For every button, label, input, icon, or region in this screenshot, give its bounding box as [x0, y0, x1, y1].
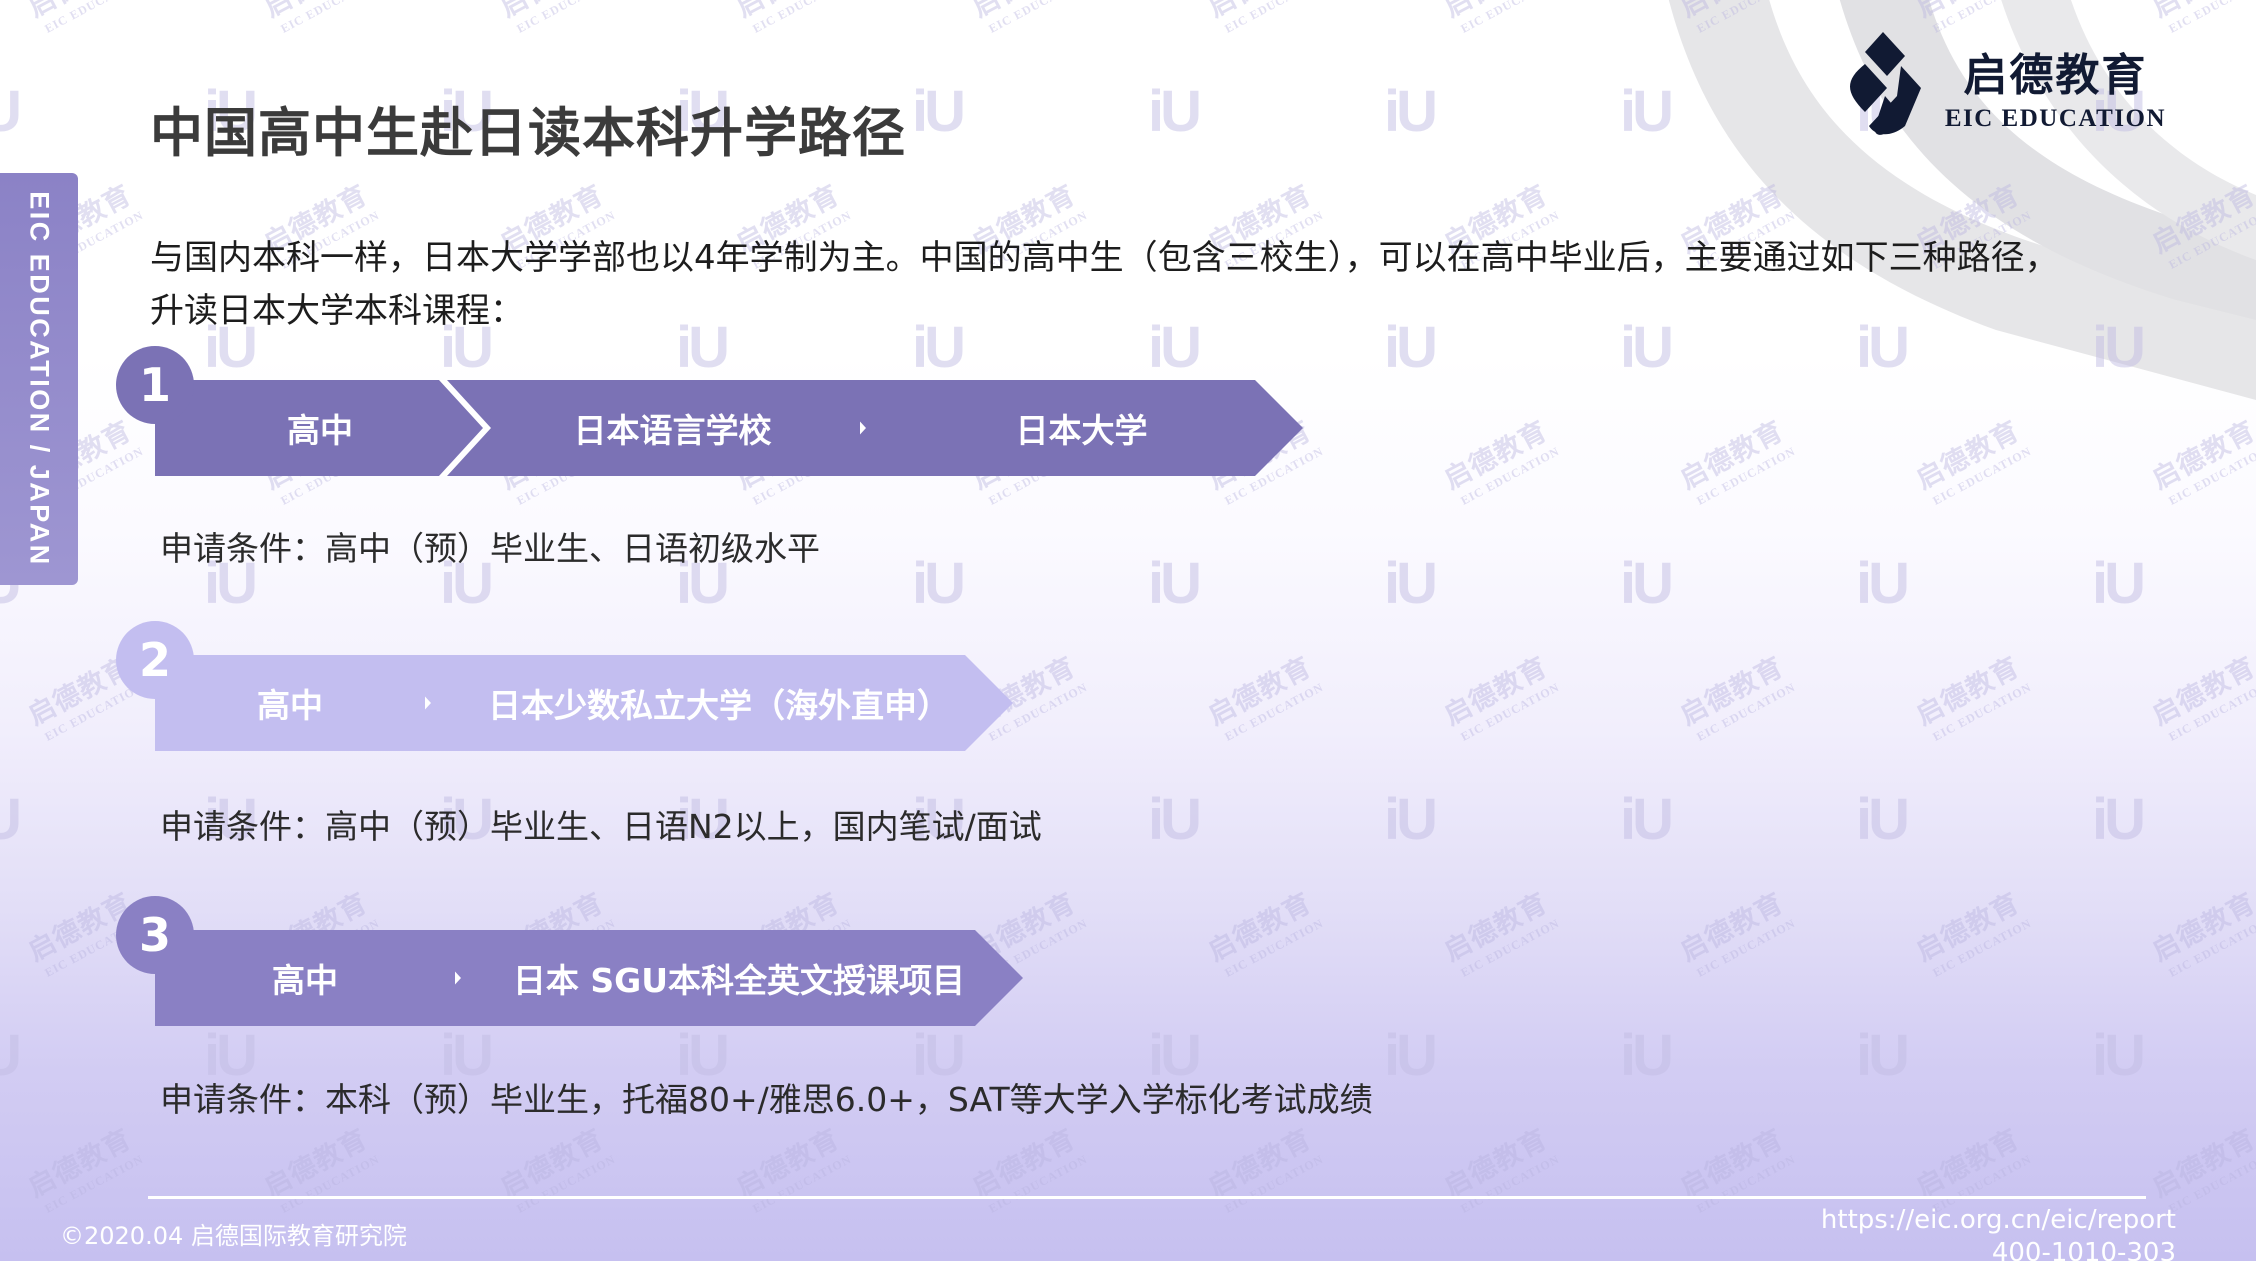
path-caption: 申请条件：高中（预）毕业生、日语N2以上，国内笔试/面试	[160, 800, 1042, 848]
path-caption: 申请条件：本科（预）毕业生，托福80+/雅思6.0+，SAT等大学入学标化考试成…	[160, 1073, 1373, 1121]
eic-logo: 启德教育 EIC EDUCATION	[1835, 30, 2166, 142]
path-step-label: 日本语言学校	[574, 404, 772, 452]
path-step[interactable]: 日本少数私立大学（海外直申）	[425, 655, 1013, 751]
path-step[interactable]: 高中	[155, 380, 485, 476]
logo-title-cn: 启德教育	[1963, 39, 2147, 103]
path-step[interactable]: 日本 SGU本科全英文授课项目	[455, 930, 1023, 1026]
path-caption: 申请条件：高中（预）毕业生、日语初级水平	[160, 522, 820, 570]
path-step-label: 日本 SGU本科全英文授课项目	[513, 954, 965, 1002]
hotline-number: 400-1010-303	[1821, 1237, 2176, 1261]
path-step[interactable]: 日本语言学校	[485, 380, 860, 476]
path-step-label: 高中	[272, 954, 338, 1002]
path-chevron-band: 高中日本少数私立大学（海外直申）	[155, 655, 1013, 751]
path-number-badge: 1	[116, 346, 194, 424]
path-step-label: 日本大学	[1016, 404, 1148, 452]
path-step-label: 日本少数私立大学（海外直申）	[488, 679, 950, 727]
slide-canvas: 启德教育EIC EDUCATIONiU启德教育EIC EDUCATIONiU启德…	[0, 0, 2256, 1261]
footer-divider	[148, 1196, 2146, 1199]
report-url[interactable]: https://eic.org.cn/eic/report	[1821, 1204, 2176, 1237]
path-step-label: 高中	[257, 679, 323, 727]
path-step[interactable]: 日本大学	[860, 380, 1303, 476]
path-step[interactable]: 高中	[155, 655, 425, 751]
path-number-badge: 3	[116, 896, 194, 974]
path-step-label: 高中	[287, 404, 353, 452]
page-title: 中国高中生赴日读本科升学路径	[150, 91, 906, 167]
path-chevron-band: 高中日本 SGU本科全英文授课项目	[155, 930, 1023, 1026]
copyright-text: ©2020.04 启德国际教育研究院	[60, 1216, 407, 1251]
path-step[interactable]: 高中	[155, 930, 455, 1026]
path-number-badge: 2	[116, 621, 194, 699]
eic-logo-mark	[1835, 30, 1927, 142]
intro-paragraph: 与国内本科一样，日本大学学部也以4年学制为主。中国的高中生（包含三校生），可以在…	[150, 232, 2080, 337]
logo-title-en: EIC EDUCATION	[1945, 105, 2166, 133]
contact-block: https://eic.org.cn/eic/report 400-1010-3…	[1821, 1204, 2176, 1261]
path-chevron-band: 高中日本语言学校日本大学	[155, 380, 1303, 476]
